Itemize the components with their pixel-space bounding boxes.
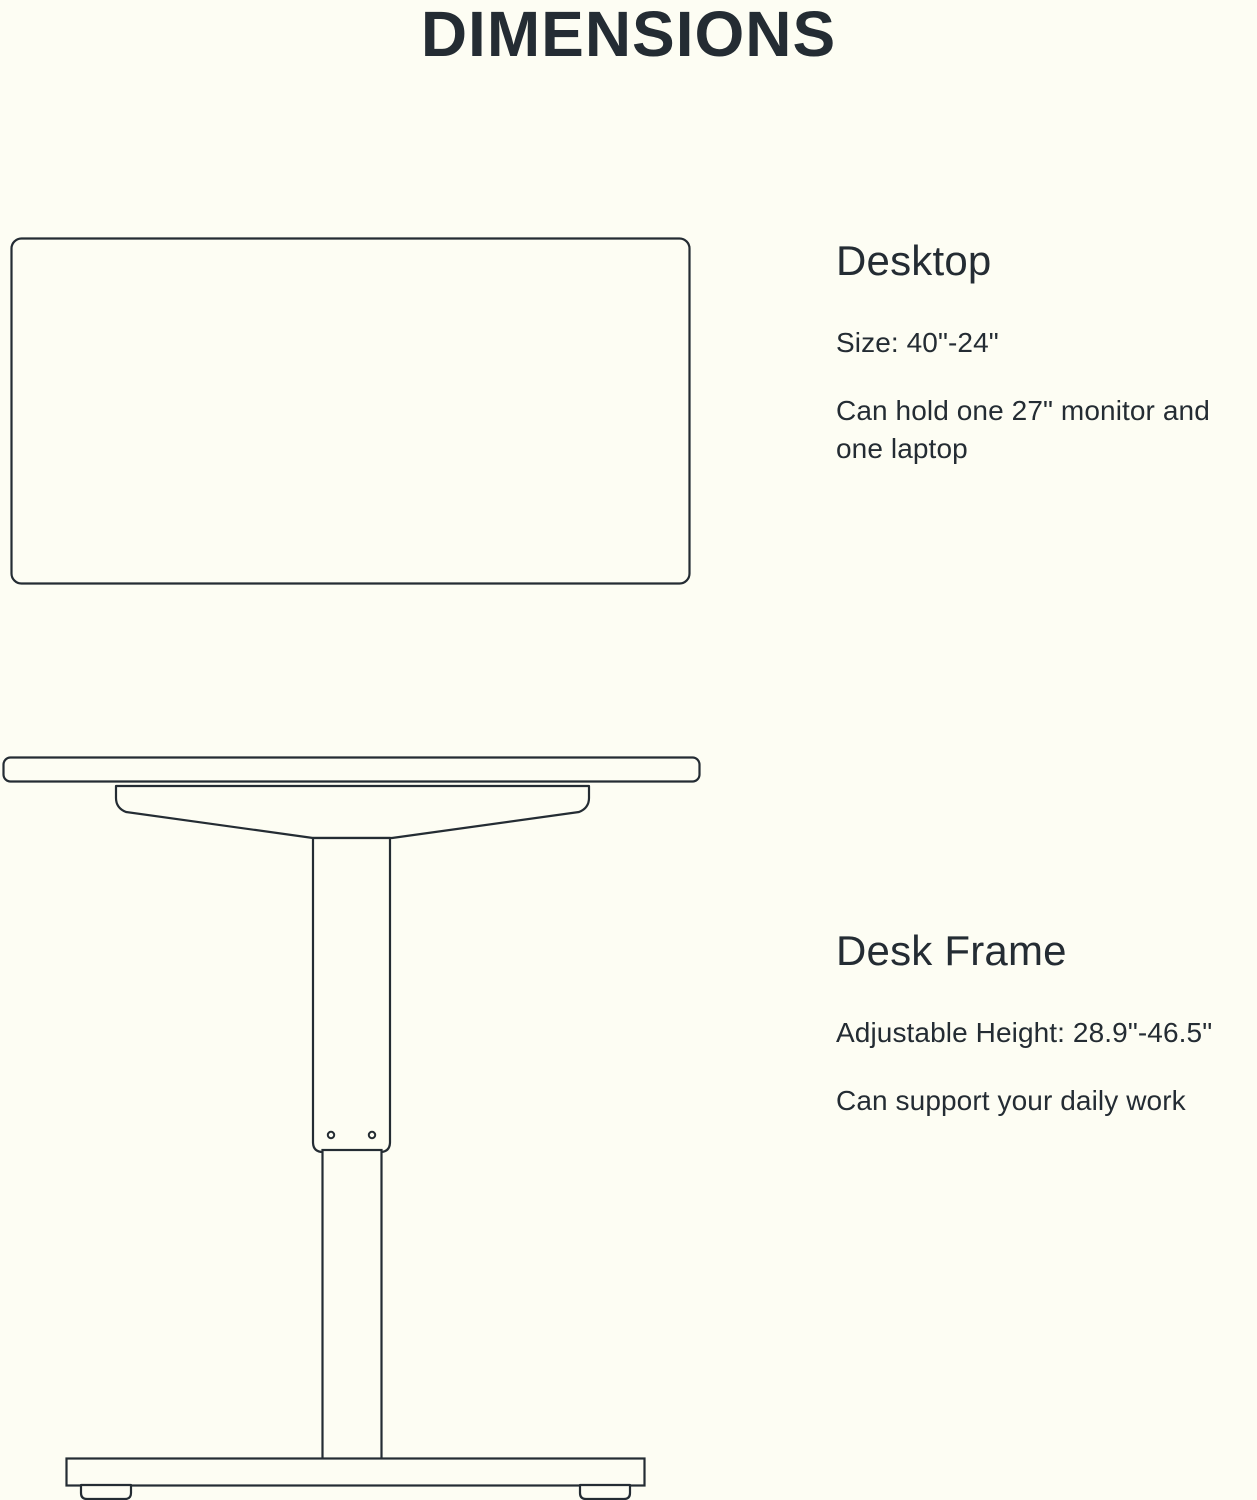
spec-line-frame-height: Adjustable Height: 28.9"-46.5" (836, 1014, 1256, 1052)
tabletop-slab (4, 758, 700, 782)
spec-line-desktop-size: Size: 40"-24" (836, 324, 1256, 362)
base-bar (67, 1459, 645, 1486)
spec-block-desktop: Desktop Size: 40"-24" Can hold one 27" m… (836, 236, 1256, 468)
spec-line-desktop-capacity: Can hold one 27" monitor and one laptop (836, 392, 1256, 468)
desktop-rectangle-outline (12, 239, 690, 584)
screw-dot-left (328, 1132, 334, 1138)
spec-line-frame-support: Can support your daily work (836, 1082, 1256, 1120)
lower-column (323, 1150, 382, 1460)
upper-column (313, 838, 390, 1152)
support-bracket (116, 786, 589, 838)
product-diagrams (0, 0, 760, 1500)
spec-heading-desktop: Desktop (836, 236, 1256, 286)
left-foot (81, 1485, 131, 1499)
spec-block-desk-frame: Desk Frame Adjustable Height: 28.9"-46.5… (836, 926, 1256, 1120)
diagram-canvas (0, 0, 760, 1500)
right-foot (580, 1485, 630, 1499)
screw-dot-right (369, 1132, 375, 1138)
spec-heading-desk-frame: Desk Frame (836, 926, 1256, 976)
